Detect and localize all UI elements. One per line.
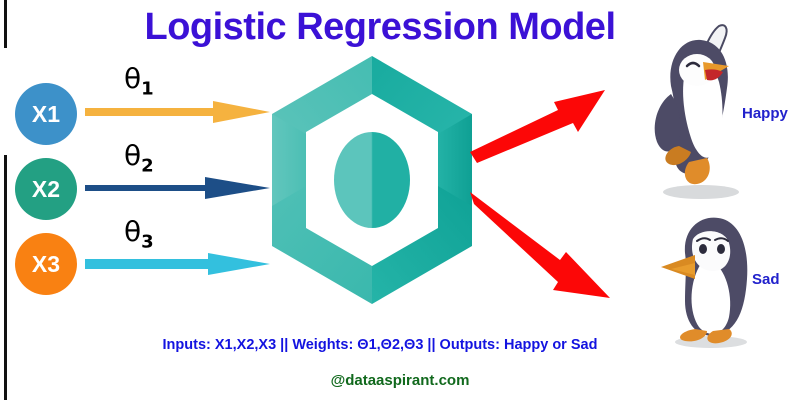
weight-label-theta3: θ3 <box>124 215 154 253</box>
output-arrow-sad-icon <box>470 190 610 310</box>
diagram-canvas: Logistic Regression Model X1 X2 X3 θ1 θ2… <box>0 0 800 400</box>
weight-label-theta1-subscript: 1 <box>141 79 154 100</box>
input-arrow-theta3-icon <box>85 252 270 278</box>
output-label-happy: Happy <box>742 105 788 122</box>
weight-label-theta3-symbol: θ <box>124 215 141 248</box>
weight-label-theta2-subscript: 2 <box>141 156 154 177</box>
weight-label-theta2: θ2 <box>124 139 154 177</box>
input-node-x3: X3 <box>15 233 77 295</box>
site-watermark: @dataaspirant.com <box>0 372 800 389</box>
weight-label-theta3-subscript: 3 <box>141 232 154 253</box>
weight-label-theta1: θ1 <box>124 62 154 100</box>
input-node-x1: X1 <box>15 83 77 145</box>
output-label-sad: Sad <box>752 271 780 288</box>
input-arrow-theta1-icon <box>85 100 270 126</box>
sad-penguin-icon <box>655 205 765 350</box>
weight-label-theta2-symbol: θ <box>124 139 141 172</box>
input-node-x3-label: X3 <box>32 251 60 278</box>
output-arrow-happy-icon <box>470 90 605 165</box>
input-arrow-theta2-icon <box>85 176 270 202</box>
input-node-x2-label: X2 <box>32 176 60 203</box>
hexagon-node-icon <box>262 50 482 310</box>
happy-penguin-icon <box>645 22 755 202</box>
legend-caption: Inputs: X1,X2,X3 || Weights: Θ1,Θ2,Θ3 ||… <box>0 337 760 353</box>
weight-label-theta1-symbol: θ <box>124 62 141 95</box>
left-edge-artifact-bottom <box>4 155 7 400</box>
input-node-x2: X2 <box>15 158 77 220</box>
input-node-x1-label: X1 <box>32 101 60 128</box>
